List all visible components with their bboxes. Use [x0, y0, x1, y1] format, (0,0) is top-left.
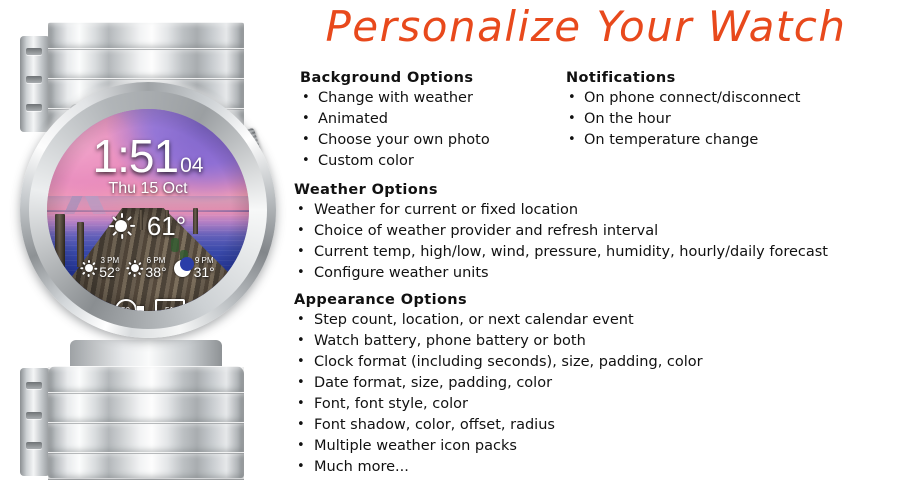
section-appearance-options: Appearance Options Step count, location,…: [294, 292, 703, 478]
bullet-list: Weather for current or fixed location Ch…: [294, 200, 828, 284]
section-notifications: Notifications On phone connect/disconnec…: [566, 70, 800, 151]
bracelet-link: [48, 422, 244, 454]
list-item: Weather for current or fixed location: [294, 200, 828, 221]
list-item: Font, font style, color: [294, 394, 703, 415]
clasp-notch: [26, 104, 42, 111]
list-item: Configure weather units: [294, 263, 828, 284]
clasp-notch: [26, 412, 42, 419]
list-item: Date format, size, padding, color: [294, 373, 703, 394]
watch-dial[interactable]: 1:5104 Thu 15 Oct: [47, 109, 249, 311]
watch-case: 1:5104 Thu 15 Oct: [20, 82, 276, 338]
clasp-notch: [26, 76, 42, 83]
list-item: Current temp, high/low, wind, pressure, …: [294, 242, 828, 263]
bracelet-link: [48, 48, 244, 80]
list-item: On the hour: [566, 109, 800, 130]
bracelet-clasp-top: [20, 36, 50, 132]
bullet-list: Step count, location, or next calendar e…: [294, 310, 703, 478]
page-title: Personalize Your Watch: [286, 2, 886, 51]
watch-bracelet-bottom: [48, 366, 244, 478]
smartwatch-product-image: 1:5104 Thu 15 Oct: [0, 0, 292, 500]
dial-glass-reflection: [47, 109, 249, 311]
clasp-notch: [26, 442, 42, 449]
section-background-options: Background Options Change with weather A…: [300, 70, 490, 172]
battery-nub: [186, 306, 189, 311]
list-item: Choose your own photo: [300, 130, 490, 151]
list-item: Animated: [300, 109, 490, 130]
bullet-list: On phone connect/disconnect On the hour …: [566, 88, 800, 151]
list-item: Multiple weather icon packs: [294, 436, 703, 457]
section-heading: Notifications: [566, 70, 800, 86]
list-item: Custom color: [300, 151, 490, 172]
list-item: Choice of weather provider and refresh i…: [294, 221, 828, 242]
list-item: Step count, location, or next calendar e…: [294, 310, 703, 331]
feature-list-panel: Personalize Your Watch Background Option…: [278, 0, 900, 500]
bracelet-links: [48, 366, 244, 478]
section-heading: Appearance Options: [294, 292, 703, 308]
bracelet-clasp-bottom: [20, 368, 50, 476]
promo-page: 1:5104 Thu 15 Oct: [0, 0, 900, 500]
bracelet-link: [48, 22, 244, 50]
list-item: On phone connect/disconnect: [566, 88, 800, 109]
list-item: Clock format (including seconds), size, …: [294, 352, 703, 373]
list-item: Change with weather: [300, 88, 490, 109]
bracelet-link: [48, 392, 244, 424]
list-item: Much more...: [294, 457, 703, 478]
list-item: On temperature change: [566, 130, 800, 151]
bracelet-link: [48, 366, 244, 394]
section-weather-options: Weather Options Weather for current or f…: [294, 182, 828, 284]
watch-bezel: 1:5104 Thu 15 Oct: [29, 91, 267, 329]
bullet-list: Change with weather Animated Choose your…: [300, 88, 490, 172]
clasp-notch: [26, 48, 42, 55]
section-heading: Weather Options: [294, 182, 828, 198]
section-heading: Background Options: [300, 70, 490, 86]
bracelet-link: [48, 452, 244, 480]
clasp-notch: [26, 382, 42, 389]
list-item: Watch battery, phone battery or both: [294, 331, 703, 352]
list-item: Font shadow, color, offset, radius: [294, 415, 703, 436]
battery-cap-left: [108, 306, 115, 312]
